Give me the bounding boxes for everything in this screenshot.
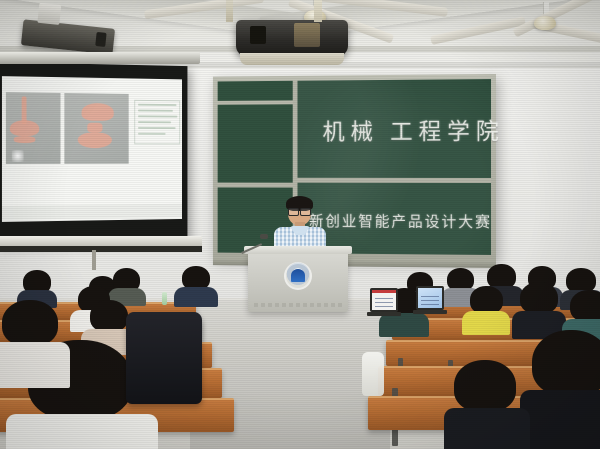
podium [248, 252, 348, 312]
projector-housing [294, 23, 320, 47]
laptop-right[interactable] [416, 286, 444, 310]
audience-member-foreground [0, 300, 70, 390]
cad-render-base [14, 136, 36, 143]
presentation-slide [2, 76, 182, 222]
audience-head [90, 300, 128, 332]
audience-member [20, 270, 54, 304]
laptop-screen-content [421, 294, 439, 305]
cad-render-shade [10, 120, 39, 136]
cad-render-middle [87, 123, 102, 133]
audience-member-foreground [530, 330, 600, 449]
audience-member [110, 268, 144, 304]
laptop-screen [416, 286, 444, 310]
lecture-hall-photo: 机械 工程学院 新创业智能产品设计大赛 [0, 0, 600, 449]
podium-inscription [254, 303, 342, 307]
laptop-left[interactable] [370, 288, 398, 312]
laptop-screen-content [375, 296, 393, 307]
blackboard: 机械 工程学院 新创业智能产品设计大赛 [213, 74, 496, 260]
laptop-base [413, 310, 447, 314]
audience-head [520, 282, 558, 314]
microphone-icon [242, 236, 268, 254]
audience-head [532, 330, 600, 396]
ceiling-fan-right-icon [500, 2, 590, 48]
glasses-icon [288, 208, 311, 214]
slide-text-line [138, 127, 176, 129]
blackboard-surface: 机械 工程学院 新创业智能产品设计大赛 [218, 79, 491, 255]
blackboard-row-top: 机械 工程学院 [298, 79, 492, 183]
university-crest-icon [284, 262, 312, 290]
projector-mount-pole [226, 0, 233, 22]
audience-head [2, 300, 58, 346]
blackboard-heading-text: 机械 工程学院 [322, 111, 504, 145]
white-bag [362, 352, 384, 396]
blackboard-divider [218, 183, 293, 188]
laptop-screen [370, 288, 398, 312]
audience-head [470, 286, 503, 314]
slide-text-block [134, 100, 180, 145]
audience-head [454, 360, 516, 412]
audience-head [570, 290, 600, 322]
water-bottle [162, 292, 167, 305]
ceiling-projector-icon [236, 20, 348, 56]
cad-render-bottom [78, 132, 112, 148]
slide-content [2, 92, 182, 164]
fan-blade [430, 16, 526, 45]
slide-text-line [138, 110, 173, 112]
projector-lens [250, 26, 266, 44]
laptop-base [367, 312, 401, 316]
audience-member-foreground [452, 360, 522, 449]
slide-text-line [138, 133, 166, 135]
audience-member [466, 286, 506, 334]
fan-hub [534, 16, 556, 30]
audience-torso [462, 311, 510, 335]
slide-image-panel-2 [64, 93, 128, 164]
projection-screen [0, 62, 187, 244]
slide-text-line [138, 115, 177, 117]
slide-footer [2, 204, 182, 220]
audience-torso [174, 287, 218, 307]
cad-render-top [82, 103, 114, 121]
blackboard-divider [218, 100, 293, 104]
blackboard-subheading-text: 新创业智能产品设计大赛 [309, 210, 492, 232]
slide-image-panel-1 [6, 92, 61, 164]
audience-torso [6, 414, 158, 449]
audience-member [178, 266, 214, 304]
slide-highlight [12, 150, 24, 162]
audience-torso [444, 408, 530, 449]
slide-text-line [138, 104, 177, 106]
audience-torso [0, 342, 70, 388]
audience-torso [379, 313, 429, 337]
projector-mount-pole [314, 0, 322, 22]
speaker-mount [37, 3, 61, 25]
audience-torso [520, 390, 600, 449]
slide-text-line [138, 121, 171, 123]
speaker-bolt [95, 32, 106, 47]
backpack [126, 312, 202, 404]
projection-screen-pull-cord [92, 250, 96, 270]
projection-screen-top-bar [0, 52, 200, 64]
projection-screen-weight-bar [0, 246, 202, 252]
